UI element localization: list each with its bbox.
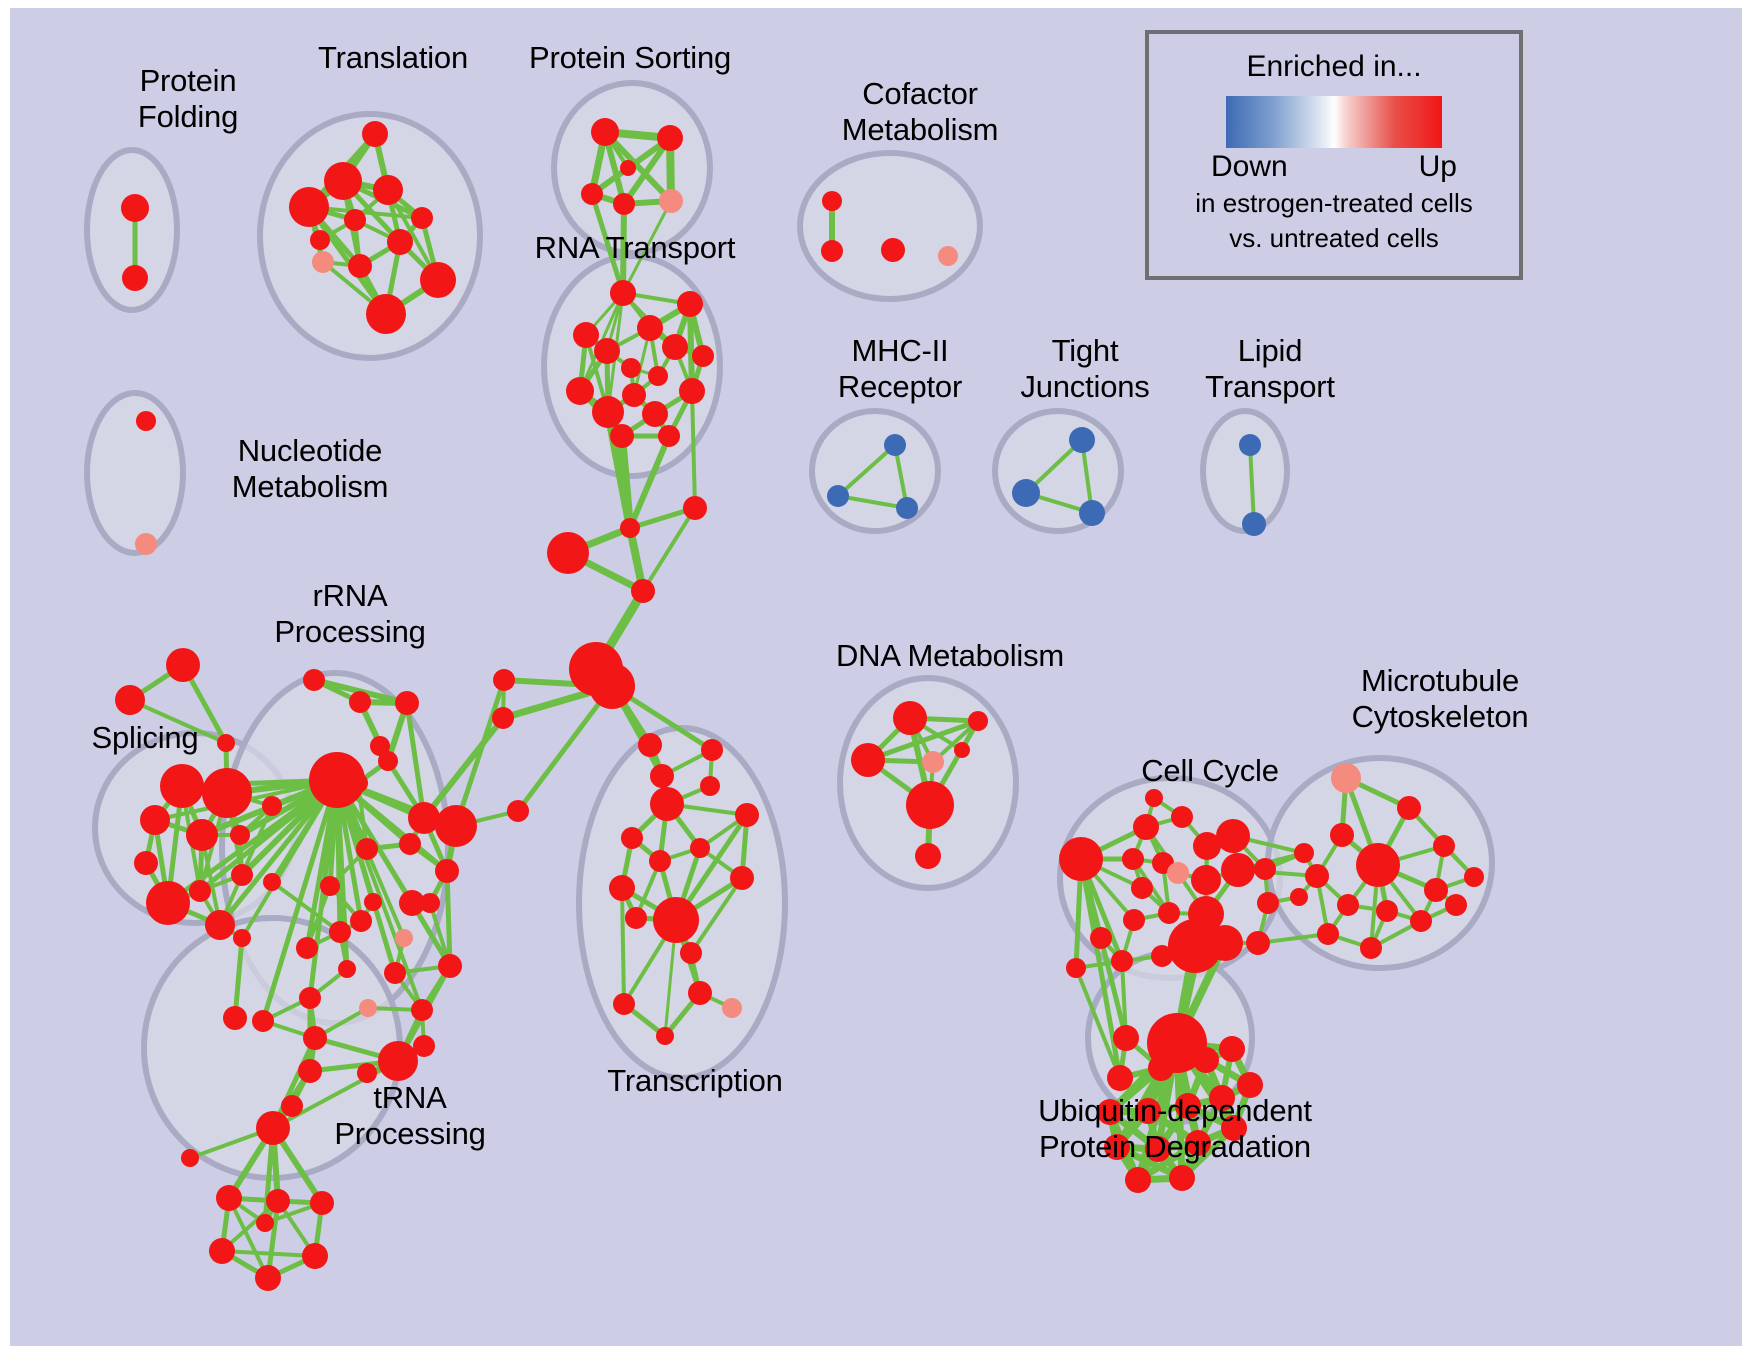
network-node[interactable] (658, 425, 680, 447)
network-node[interactable] (348, 254, 372, 278)
cluster-label-protein-sorting: Protein Sorting (500, 40, 760, 76)
cluster-hull-lipid-transport (1203, 411, 1287, 531)
network-node[interactable] (281, 1095, 303, 1117)
cluster-label-microtubule-cytoskeleton: Microtubule Cytoskeleton (1310, 663, 1570, 735)
network-node[interactable] (594, 338, 620, 364)
network-node[interactable] (722, 998, 742, 1018)
network-node[interactable] (649, 850, 671, 872)
figure-canvas: Protein FoldingTranslationProtein Sortin… (0, 0, 1750, 1360)
network-node[interactable] (621, 358, 641, 378)
network-node[interactable] (680, 942, 702, 964)
network-node[interactable] (1410, 910, 1432, 932)
network-node[interactable] (507, 800, 529, 822)
network-node[interactable] (1219, 1036, 1245, 1062)
cluster-label-ubiquitin-protein-degradation: Ubiquitin-dependent Protein Degradation (995, 1093, 1355, 1165)
network-node[interactable] (1246, 931, 1270, 955)
legend-low-label: Down (1211, 150, 1288, 184)
network-node[interactable] (1356, 843, 1400, 887)
network-node[interactable] (1191, 865, 1221, 895)
legend-endpoint-labels: Down Up (1211, 150, 1457, 184)
network-node[interactable] (134, 851, 158, 875)
network-node[interactable] (160, 764, 204, 808)
network-node[interactable] (701, 739, 723, 761)
network-node[interactable] (642, 401, 668, 427)
network-node[interactable] (136, 411, 156, 431)
cluster-label-protein-folding: Protein Folding (88, 63, 288, 135)
network-node[interactable] (1169, 1165, 1195, 1191)
cluster-hull-mhc-ii-receptor (812, 411, 938, 531)
network-node[interactable] (338, 960, 356, 978)
network-node[interactable] (289, 187, 329, 227)
network-node[interactable] (1158, 902, 1180, 924)
network-node[interactable] (115, 685, 145, 715)
network-node[interactable] (263, 873, 281, 891)
network-node[interactable] (1079, 500, 1105, 526)
network-node[interactable] (209, 1238, 235, 1264)
network-node[interactable] (735, 803, 759, 827)
network-node[interactable] (1125, 1167, 1151, 1193)
network-node[interactable] (146, 881, 190, 925)
network-node[interactable] (621, 827, 643, 849)
network-node[interactable] (1294, 843, 1314, 863)
network-node[interactable] (690, 838, 710, 858)
cluster-label-splicing: Splicing (60, 720, 230, 756)
network-node[interactable] (700, 776, 720, 796)
legend-title: Enriched in... (1149, 50, 1519, 84)
network-node[interactable] (387, 229, 413, 255)
network-node[interactable] (395, 929, 413, 947)
network-node[interactable] (1207, 925, 1243, 961)
network-node[interactable] (435, 859, 459, 883)
network-node[interactable] (881, 238, 905, 262)
network-node[interactable] (648, 366, 668, 386)
network-node[interactable] (299, 987, 321, 1009)
network-node[interactable] (399, 833, 421, 855)
network-node[interactable] (420, 262, 456, 298)
cluster-label-dna-metabolism: DNA Metabolism (810, 638, 1090, 674)
network-node[interactable] (202, 768, 252, 818)
cluster-label-transcription: Transcription (575, 1063, 815, 1099)
network-node[interactable] (659, 189, 683, 213)
network-node[interactable] (1012, 479, 1040, 507)
network-node[interactable] (411, 207, 433, 229)
network-node[interactable] (1445, 894, 1467, 916)
network-node[interactable] (591, 118, 619, 146)
network-node[interactable] (320, 876, 340, 896)
cluster-label-rrna-processing: rRNA Processing (250, 578, 450, 650)
network-node[interactable] (683, 496, 707, 520)
cluster-label-lipid-transport: Lipid Transport (1170, 333, 1370, 405)
network-node[interactable] (1424, 878, 1448, 902)
network-node[interactable] (1059, 837, 1103, 881)
network-node[interactable] (312, 251, 334, 273)
network-node[interactable] (968, 711, 988, 731)
network-node[interactable] (310, 1191, 334, 1215)
network-node[interactable] (256, 1111, 290, 1145)
network-node[interactable] (411, 999, 433, 1021)
network-node[interactable] (378, 1041, 418, 1081)
network-node[interactable] (1221, 853, 1255, 887)
network-node[interactable] (373, 175, 403, 205)
network-node[interactable] (296, 937, 318, 959)
cluster-label-rna-transport: RNA Transport (510, 230, 760, 266)
network-node[interactable] (1133, 814, 1159, 840)
network-node[interactable] (122, 265, 148, 291)
legend-color-gradient-bar (1226, 96, 1442, 148)
network-node[interactable] (692, 345, 714, 367)
network-node[interactable] (954, 742, 970, 758)
network-node[interactable] (233, 929, 251, 947)
network-node[interactable] (938, 246, 958, 266)
network-node[interactable] (216, 1185, 242, 1211)
network-node[interactable] (1376, 900, 1398, 922)
network-node[interactable] (140, 805, 170, 835)
network-node[interactable] (922, 751, 944, 773)
network-node[interactable] (370, 736, 390, 756)
network-node[interactable] (1330, 823, 1354, 847)
network-node[interactable] (189, 880, 211, 902)
network-node[interactable] (1337, 894, 1359, 916)
network-node[interactable] (420, 893, 440, 913)
network-node[interactable] (366, 294, 406, 334)
network-node[interactable] (350, 910, 372, 932)
network-node[interactable] (915, 843, 941, 869)
network-node[interactable] (1069, 427, 1095, 453)
network-node[interactable] (677, 291, 703, 317)
cluster-hull-cofactor-metabolism (800, 153, 980, 299)
network-node[interactable] (1464, 867, 1484, 887)
cluster-label-cell-cycle: Cell Cycle (1100, 753, 1320, 789)
network-node[interactable] (589, 663, 635, 709)
network-node[interactable] (256, 1214, 274, 1232)
cluster-label-nucleotide-metabolism: Nucleotide Metabolism (195, 433, 425, 505)
network-node[interactable] (592, 396, 624, 428)
network-node[interactable] (255, 1265, 281, 1291)
cluster-label-cofactor-metabolism: Cofactor Metabolism (805, 76, 1035, 148)
network-node[interactable] (657, 125, 683, 151)
network-node[interactable] (637, 315, 663, 341)
network-node[interactable] (1305, 864, 1329, 888)
network-node[interactable] (266, 1189, 290, 1213)
network-node[interactable] (650, 764, 674, 788)
network-node[interactable] (1090, 927, 1112, 949)
network-node[interactable] (349, 691, 371, 713)
network-edge (456, 680, 504, 826)
network-node[interactable] (1254, 858, 1276, 880)
network-node[interactable] (609, 875, 635, 901)
network-node[interactable] (181, 1149, 199, 1167)
network-node[interactable] (1123, 909, 1145, 931)
network-node[interactable] (1145, 789, 1163, 807)
network-node[interactable] (622, 383, 646, 407)
network-node[interactable] (1433, 835, 1455, 857)
network-node[interactable] (230, 825, 250, 845)
network-node[interactable] (610, 280, 636, 306)
network-node[interactable] (492, 707, 514, 729)
legend-box: Enriched in... Down Up in estrogen-treat… (1145, 30, 1523, 280)
network-node[interactable] (662, 334, 688, 360)
network-node[interactable] (395, 691, 419, 715)
network-node[interactable] (1122, 848, 1144, 870)
network-node[interactable] (581, 183, 603, 205)
network-node[interactable] (362, 121, 388, 147)
network-node[interactable] (1257, 892, 1279, 914)
cluster-label-translation: Translation (278, 40, 508, 76)
network-node[interactable] (329, 921, 351, 943)
legend-subtitle-line-1: in estrogen-treated cells (1149, 188, 1519, 219)
network-node[interactable] (1331, 763, 1361, 793)
network-node[interactable] (1171, 806, 1193, 828)
network-node[interactable] (566, 377, 594, 405)
network-plot-area: Protein FoldingTranslationProtein Sortin… (10, 8, 1742, 1346)
network-node[interactable] (1167, 862, 1189, 884)
network-node[interactable] (625, 907, 647, 929)
network-node[interactable] (302, 1243, 328, 1269)
network-node[interactable] (884, 434, 906, 456)
network-node[interactable] (1360, 937, 1382, 959)
network-node[interactable] (822, 191, 842, 211)
network-node[interactable] (613, 993, 635, 1015)
network-node[interactable] (827, 485, 849, 507)
network-node[interactable] (656, 1027, 674, 1045)
network-node[interactable] (1397, 796, 1421, 820)
network-node[interactable] (631, 579, 655, 603)
network-node[interactable] (679, 378, 705, 404)
network-node[interactable] (653, 897, 699, 943)
network-node[interactable] (1111, 950, 1133, 972)
network-node[interactable] (1066, 958, 1086, 978)
network-node[interactable] (1107, 1065, 1133, 1091)
network-node[interactable] (906, 781, 954, 829)
network-node[interactable] (121, 194, 149, 222)
network-node[interactable] (438, 954, 462, 978)
network-node[interactable] (303, 1026, 327, 1050)
network-node[interactable] (821, 240, 843, 262)
network-node[interactable] (493, 669, 515, 691)
network-node[interactable] (573, 322, 599, 348)
network-node[interactable] (135, 533, 157, 555)
network-node[interactable] (359, 999, 377, 1017)
network-node[interactable] (348, 773, 368, 793)
network-node[interactable] (356, 838, 378, 860)
legend-subtitle-line-2: vs. untreated cells (1149, 223, 1519, 254)
network-node[interactable] (344, 209, 366, 231)
network-node[interactable] (1290, 888, 1308, 906)
network-node[interactable] (1239, 434, 1261, 456)
cluster-hull-nucleotide-metabolism (87, 393, 183, 553)
network-node[interactable] (435, 805, 477, 847)
network-node[interactable] (896, 497, 918, 519)
network-node[interactable] (310, 230, 330, 250)
network-node[interactable] (613, 193, 635, 215)
network-node[interactable] (384, 962, 406, 984)
network-node[interactable] (262, 796, 282, 816)
network-node[interactable] (893, 701, 927, 735)
network-node[interactable] (223, 1006, 247, 1030)
network-node[interactable] (166, 648, 200, 682)
network-node[interactable] (638, 733, 662, 757)
network-node[interactable] (730, 866, 754, 890)
network-node[interactable] (1113, 1025, 1139, 1051)
network-node[interactable] (1148, 1055, 1174, 1081)
network-node[interactable] (1317, 923, 1339, 945)
network-node[interactable] (1151, 945, 1173, 967)
network-node[interactable] (303, 669, 325, 691)
network-node[interactable] (1242, 512, 1266, 536)
network-node[interactable] (364, 893, 382, 911)
legend-high-label: Up (1419, 150, 1457, 184)
network-node[interactable] (1131, 877, 1153, 899)
network-node[interactable] (650, 787, 684, 821)
network-node[interactable] (252, 1010, 274, 1032)
cluster-label-trna-processing: tRNA Processing (310, 1080, 510, 1152)
network-node[interactable] (205, 910, 235, 940)
network-edge (518, 686, 612, 811)
network-edge (622, 888, 624, 1004)
network-node[interactable] (408, 802, 440, 834)
network-node[interactable] (547, 532, 589, 574)
cluster-label-tight-junctions: Tight Junctions (985, 333, 1185, 405)
network-node[interactable] (610, 424, 634, 448)
network-edge (690, 304, 692, 391)
network-node[interactable] (1193, 1047, 1219, 1073)
network-node[interactable] (620, 518, 640, 538)
network-node[interactable] (688, 981, 712, 1005)
cluster-label-mhc-ii-receptor: MHC-II Receptor (800, 333, 1000, 405)
network-node[interactable] (324, 162, 362, 200)
network-node[interactable] (231, 864, 253, 886)
network-node[interactable] (186, 819, 218, 851)
network-node[interactable] (1216, 819, 1250, 853)
network-node[interactable] (620, 160, 636, 176)
network-node[interactable] (851, 743, 885, 777)
